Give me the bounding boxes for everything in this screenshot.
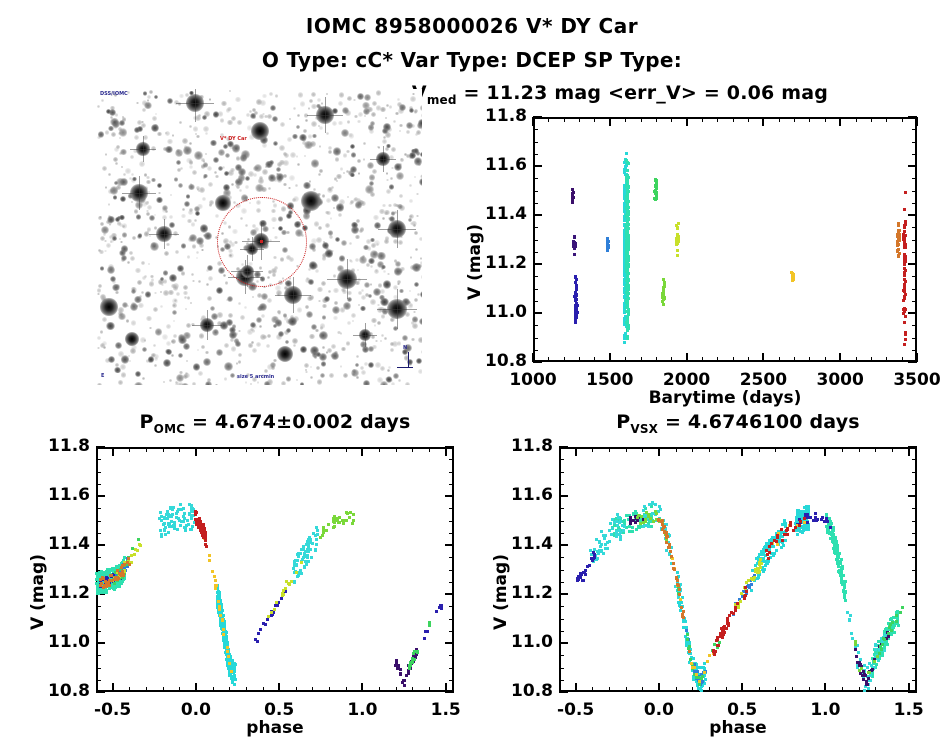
background-star bbox=[123, 173, 126, 176]
background-star bbox=[221, 101, 226, 106]
background-star bbox=[346, 150, 350, 154]
data-point bbox=[899, 611, 902, 614]
field-star bbox=[216, 287, 223, 294]
data-point bbox=[618, 516, 621, 519]
data-point bbox=[625, 321, 628, 324]
diffraction-spike bbox=[143, 136, 144, 162]
ytick-label: 11.2 bbox=[455, 253, 527, 273]
background-star bbox=[399, 194, 403, 198]
field-star bbox=[119, 128, 127, 136]
data-point bbox=[595, 558, 598, 561]
ytick-major bbox=[96, 544, 105, 546]
data-point bbox=[575, 288, 578, 291]
data-point bbox=[880, 648, 883, 651]
data-point bbox=[870, 664, 873, 667]
xtick-minor bbox=[676, 687, 677, 692]
xtick-minor-top bbox=[902, 117, 903, 122]
background-star bbox=[250, 383, 252, 385]
data-point bbox=[695, 676, 698, 679]
data-point bbox=[167, 515, 170, 518]
background-star bbox=[414, 231, 418, 235]
data-point bbox=[332, 526, 335, 529]
xtick-major-top bbox=[908, 447, 910, 456]
data-point bbox=[757, 568, 760, 571]
data-point bbox=[628, 525, 631, 528]
data-point bbox=[750, 583, 753, 586]
xtick-minor-top bbox=[296, 447, 297, 452]
data-point bbox=[603, 537, 606, 540]
background-star bbox=[374, 269, 379, 274]
background-star bbox=[147, 201, 150, 204]
data-point bbox=[231, 679, 234, 682]
ytick-minor-right bbox=[912, 508, 917, 509]
data-point bbox=[625, 241, 628, 244]
background-star bbox=[101, 99, 104, 102]
data-point bbox=[574, 321, 577, 324]
background-star bbox=[311, 92, 316, 97]
field-star bbox=[368, 294, 372, 298]
field-star bbox=[149, 215, 155, 221]
background-star bbox=[364, 115, 366, 117]
background-star bbox=[347, 98, 349, 100]
background-star bbox=[331, 186, 334, 189]
data-point bbox=[217, 600, 220, 603]
background-star bbox=[119, 137, 121, 139]
background-star bbox=[293, 107, 296, 110]
data-point bbox=[807, 516, 810, 519]
background-star bbox=[296, 155, 298, 157]
data-point bbox=[280, 597, 283, 600]
background-star bbox=[370, 265, 373, 268]
data-point bbox=[230, 670, 233, 673]
background-star bbox=[149, 281, 154, 286]
background-star bbox=[287, 137, 292, 142]
background-star bbox=[319, 169, 322, 172]
xtick-minor-top bbox=[594, 117, 595, 122]
background-star bbox=[163, 381, 165, 383]
background-star bbox=[311, 121, 317, 127]
field-star bbox=[156, 197, 162, 203]
xtick-minor-top bbox=[129, 447, 130, 452]
data-point bbox=[233, 670, 236, 673]
xtick-major bbox=[575, 683, 577, 692]
ytick-minor-right bbox=[912, 350, 917, 351]
data-point bbox=[311, 542, 314, 545]
data-point bbox=[676, 254, 679, 257]
data-point bbox=[669, 550, 672, 553]
data-point bbox=[625, 306, 628, 309]
background-star bbox=[187, 296, 190, 299]
data-point bbox=[629, 519, 632, 522]
data-point bbox=[902, 299, 905, 302]
field-star bbox=[332, 306, 340, 314]
field-star bbox=[309, 243, 315, 249]
field-star bbox=[370, 250, 378, 258]
ytick-label: 11.6 bbox=[481, 485, 553, 505]
field-star bbox=[341, 240, 347, 246]
data-point bbox=[896, 233, 899, 236]
field-star bbox=[213, 111, 220, 118]
field-star bbox=[235, 164, 241, 170]
xtick-minor-top bbox=[592, 447, 593, 452]
xtick-minor bbox=[146, 687, 147, 692]
background-star bbox=[334, 301, 337, 304]
ytick-major-right bbox=[908, 544, 917, 546]
field-star bbox=[348, 170, 354, 176]
ytick-minor bbox=[559, 619, 564, 620]
background-star bbox=[259, 325, 262, 328]
plot-frame-vsx[interactable] bbox=[559, 447, 917, 692]
data-point bbox=[840, 566, 843, 569]
finder-chart-image[interactable]: DSS/IOMC V* DY Car size 5 arcmin N E bbox=[97, 89, 422, 385]
background-star bbox=[278, 312, 281, 315]
field-star bbox=[224, 362, 233, 371]
background-star bbox=[160, 305, 164, 309]
background-star bbox=[189, 160, 193, 164]
data-point bbox=[625, 514, 628, 517]
data-point bbox=[402, 679, 405, 682]
data-point bbox=[572, 245, 575, 248]
data-point bbox=[750, 577, 753, 580]
data-point bbox=[128, 563, 131, 566]
data-point bbox=[688, 641, 691, 644]
data-point bbox=[883, 638, 886, 641]
field-star bbox=[194, 151, 202, 159]
data-point bbox=[627, 190, 630, 193]
field-star bbox=[419, 318, 422, 325]
field-star bbox=[304, 141, 312, 149]
data-point bbox=[262, 622, 265, 625]
background-star bbox=[162, 334, 168, 340]
data-point bbox=[233, 683, 236, 686]
background-star bbox=[390, 348, 394, 352]
ytick-minor-right bbox=[449, 668, 454, 669]
field-star bbox=[136, 214, 141, 219]
plot-frame-time[interactable] bbox=[533, 117, 917, 362]
xtick-minor bbox=[213, 687, 214, 692]
xtick-minor bbox=[246, 687, 247, 692]
ytick-minor bbox=[96, 533, 101, 534]
data-point bbox=[626, 302, 629, 305]
xtick-minor-top bbox=[775, 447, 776, 452]
data-point bbox=[854, 643, 857, 646]
field-star bbox=[363, 245, 369, 251]
data-point bbox=[873, 660, 876, 663]
xtick-major bbox=[686, 353, 688, 362]
background-star bbox=[357, 269, 359, 271]
data-point bbox=[626, 337, 629, 340]
field-star bbox=[144, 102, 151, 109]
background-star bbox=[122, 116, 124, 118]
ytick-minor-right bbox=[912, 142, 917, 143]
ytick-minor-right bbox=[912, 276, 917, 277]
xtick-minor-top bbox=[748, 117, 749, 122]
plot-frame-omc[interactable] bbox=[96, 447, 454, 692]
data-point bbox=[618, 533, 621, 536]
data-point bbox=[701, 675, 704, 678]
background-star bbox=[322, 346, 325, 349]
background-star bbox=[297, 114, 300, 117]
data-point bbox=[416, 651, 419, 654]
ytick-minor-right bbox=[912, 325, 917, 326]
ytick-minor bbox=[96, 557, 101, 558]
ytick-major bbox=[96, 642, 105, 644]
field-star bbox=[312, 134, 316, 138]
data-point bbox=[807, 508, 810, 511]
data-point bbox=[233, 665, 236, 668]
background-star bbox=[238, 353, 242, 357]
xtick-minor bbox=[902, 357, 903, 362]
data-point bbox=[842, 574, 845, 577]
field-star bbox=[276, 167, 282, 173]
data-point bbox=[165, 513, 168, 516]
background-star bbox=[375, 362, 381, 368]
ytick-major-right bbox=[908, 642, 917, 644]
ytick-label: 11.8 bbox=[481, 436, 553, 456]
field-star bbox=[200, 224, 208, 232]
ytick-major-right bbox=[908, 593, 917, 595]
background-star bbox=[309, 99, 313, 103]
background-star bbox=[193, 126, 199, 132]
data-point bbox=[661, 519, 664, 522]
field-star bbox=[100, 266, 104, 270]
data-point bbox=[183, 526, 186, 529]
xtick-minor bbox=[312, 687, 313, 692]
data-point bbox=[113, 582, 116, 585]
ytick-major bbox=[533, 165, 542, 167]
ytick-minor-right bbox=[912, 459, 917, 460]
background-star bbox=[220, 118, 224, 122]
field-star bbox=[386, 144, 390, 148]
xtick-minor-top bbox=[692, 447, 693, 452]
field-star bbox=[107, 266, 115, 274]
field-star bbox=[181, 383, 188, 385]
background-star bbox=[322, 194, 326, 198]
ytick-minor bbox=[559, 582, 564, 583]
field-star bbox=[256, 317, 262, 323]
field-star bbox=[118, 313, 126, 321]
background-star bbox=[191, 273, 194, 276]
data-point bbox=[300, 572, 303, 575]
data-point bbox=[678, 588, 681, 591]
data-point bbox=[314, 549, 317, 552]
background-star bbox=[248, 343, 252, 347]
data-point bbox=[886, 643, 889, 646]
background-star bbox=[108, 203, 111, 206]
data-point bbox=[626, 317, 629, 320]
ytick-minor bbox=[533, 301, 538, 302]
field-star bbox=[121, 255, 127, 261]
data-point bbox=[904, 293, 907, 296]
field-star bbox=[235, 178, 243, 186]
data-point bbox=[588, 564, 591, 567]
field-star bbox=[203, 174, 207, 178]
data-point bbox=[159, 511, 162, 514]
background-star bbox=[288, 187, 291, 190]
background-star bbox=[410, 256, 413, 259]
ytick-minor-right bbox=[449, 570, 454, 571]
field-star bbox=[369, 181, 374, 186]
background-star bbox=[384, 337, 387, 340]
data-point bbox=[739, 600, 742, 603]
data-point bbox=[821, 516, 824, 519]
data-point bbox=[222, 633, 225, 636]
background-star bbox=[146, 210, 148, 212]
field-star bbox=[319, 331, 328, 340]
data-point bbox=[876, 655, 879, 658]
object-type-line: O Type: cC* Var Type: DCEP SP Type: bbox=[0, 48, 944, 72]
ytick-label: 11.0 bbox=[455, 302, 527, 322]
background-star bbox=[363, 158, 366, 161]
xtick-minor-top bbox=[429, 447, 430, 452]
data-point bbox=[685, 629, 688, 632]
data-point bbox=[695, 673, 698, 676]
data-point bbox=[728, 614, 731, 617]
ytick-major bbox=[533, 361, 542, 363]
background-star bbox=[138, 303, 144, 309]
data-point bbox=[600, 549, 603, 552]
data-point bbox=[100, 570, 103, 573]
data-point bbox=[676, 571, 679, 574]
background-star bbox=[136, 102, 138, 104]
data-point bbox=[831, 531, 834, 534]
data-point bbox=[676, 226, 679, 229]
diffraction-spike bbox=[397, 289, 398, 328]
data-point bbox=[618, 529, 621, 532]
ytick-minor bbox=[533, 289, 538, 290]
background-star bbox=[357, 159, 361, 163]
ytick-major-right bbox=[908, 116, 917, 118]
data-point bbox=[352, 513, 355, 516]
background-star bbox=[192, 280, 195, 283]
xtick-major bbox=[741, 683, 743, 692]
data-point bbox=[349, 511, 352, 514]
data-point bbox=[734, 606, 737, 609]
data-point bbox=[182, 520, 185, 523]
field-star bbox=[120, 178, 128, 186]
field-star bbox=[135, 371, 141, 377]
data-point bbox=[307, 544, 310, 547]
background-star bbox=[384, 210, 390, 216]
field-star bbox=[194, 206, 200, 212]
background-star bbox=[303, 129, 306, 132]
background-star bbox=[410, 96, 416, 102]
data-point bbox=[837, 556, 840, 559]
field-star bbox=[312, 352, 317, 357]
background-star bbox=[208, 276, 213, 281]
xtick-minor bbox=[886, 357, 887, 362]
background-star bbox=[141, 261, 146, 266]
background-star bbox=[140, 337, 145, 342]
field-star bbox=[283, 313, 287, 317]
field-star bbox=[230, 373, 235, 378]
data-point bbox=[180, 508, 183, 511]
background-star bbox=[316, 237, 322, 243]
field-star bbox=[324, 296, 330, 302]
data-point bbox=[803, 521, 806, 524]
background-star bbox=[330, 217, 333, 220]
background-star bbox=[338, 121, 342, 125]
field-star bbox=[299, 134, 307, 142]
background-star bbox=[189, 125, 192, 128]
ytick-major bbox=[559, 544, 568, 546]
background-star bbox=[340, 365, 343, 368]
data-point bbox=[904, 338, 907, 341]
background-star bbox=[252, 348, 257, 353]
xtick-minor bbox=[626, 687, 627, 692]
data-point bbox=[640, 515, 643, 518]
background-star bbox=[259, 114, 264, 119]
background-star bbox=[391, 147, 396, 152]
diffraction-spike bbox=[397, 210, 398, 248]
ytick-minor-right bbox=[449, 582, 454, 583]
background-star bbox=[227, 120, 232, 125]
xtick-major-top bbox=[839, 117, 841, 126]
xtick-minor-top bbox=[263, 447, 264, 452]
xtick-minor bbox=[346, 687, 347, 692]
data-point bbox=[606, 248, 609, 251]
compass-north-arrow bbox=[408, 352, 409, 368]
data-point bbox=[259, 628, 262, 631]
data-point bbox=[651, 502, 654, 505]
data-point bbox=[902, 312, 905, 315]
background-star bbox=[142, 276, 146, 280]
xtick-minor-top bbox=[564, 117, 565, 122]
data-point bbox=[295, 571, 298, 574]
ytick-minor-right bbox=[449, 557, 454, 558]
field-star bbox=[193, 363, 200, 370]
data-point bbox=[256, 640, 259, 643]
data-point bbox=[116, 585, 119, 588]
ytick-minor-right bbox=[912, 557, 917, 558]
background-star bbox=[398, 379, 401, 382]
data-point bbox=[167, 531, 170, 534]
data-point bbox=[411, 661, 414, 664]
data-point bbox=[712, 649, 715, 652]
ytick-minor bbox=[533, 191, 538, 192]
data-point bbox=[211, 570, 214, 573]
field-star bbox=[355, 363, 359, 367]
field-star bbox=[120, 149, 126, 155]
background-star bbox=[298, 92, 304, 98]
field-star bbox=[202, 115, 207, 120]
field-star bbox=[169, 274, 177, 282]
background-star bbox=[340, 167, 343, 170]
background-star bbox=[281, 381, 287, 385]
data-point bbox=[883, 649, 886, 652]
field-star bbox=[300, 346, 306, 352]
data-point bbox=[395, 661, 398, 664]
background-star bbox=[391, 382, 395, 385]
xtick-major-top bbox=[361, 447, 363, 456]
xtick-minor-top bbox=[875, 447, 876, 452]
data-point bbox=[599, 545, 602, 548]
background-star bbox=[355, 258, 359, 262]
ytick-label: 11.8 bbox=[455, 106, 527, 126]
diffraction-spike bbox=[139, 176, 140, 211]
background-star bbox=[354, 115, 357, 118]
field-star bbox=[122, 232, 127, 237]
background-star bbox=[326, 211, 330, 215]
ytick-minor-right bbox=[912, 484, 917, 485]
background-star bbox=[179, 121, 182, 124]
ytick-major bbox=[559, 642, 568, 644]
data-point bbox=[896, 249, 899, 252]
ytick-minor bbox=[559, 655, 564, 656]
data-point bbox=[571, 194, 574, 197]
background-star bbox=[284, 153, 289, 158]
data-point bbox=[678, 593, 681, 596]
